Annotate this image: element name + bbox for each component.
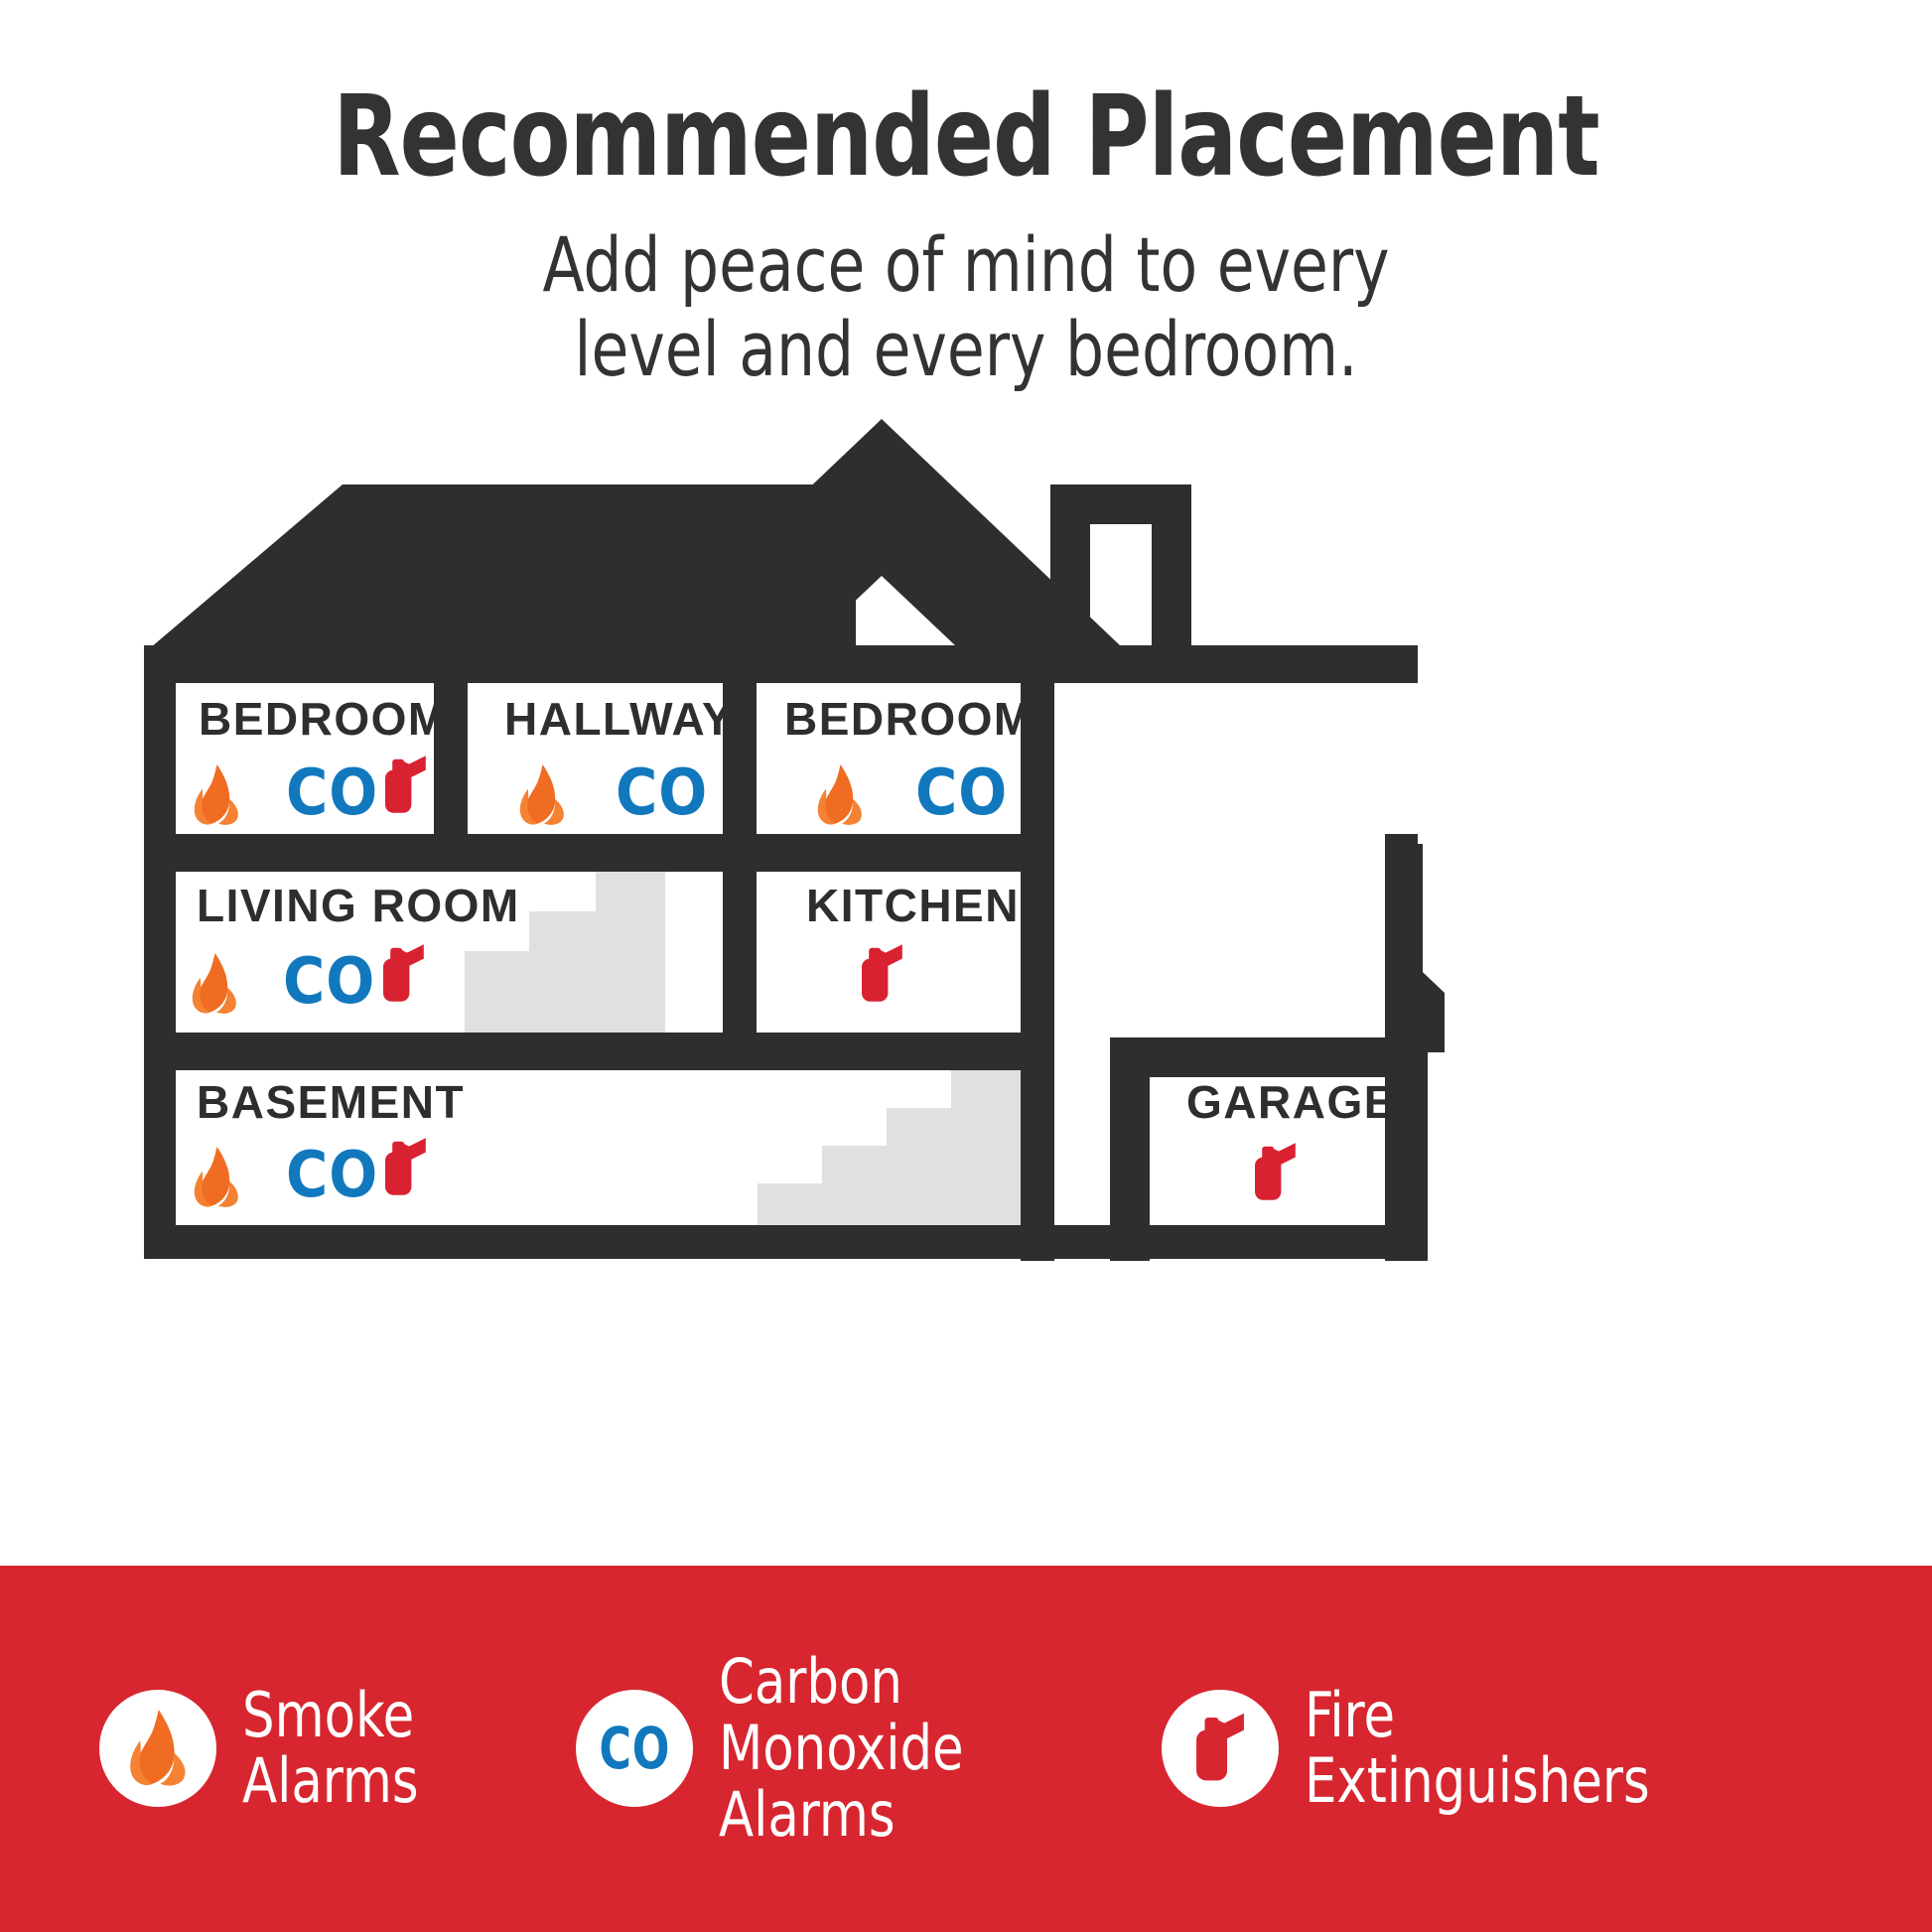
co-alarm-icon: CO [283,945,375,1019]
legend-label: Fire Extinguishers [1305,1683,1650,1816]
house-diagram: BEDROOM CO HALLWAY CO BEDROOM CO LIVING … [0,397,1932,1579]
room-label: BASEMENT [197,1076,465,1128]
room-label: HALLWAY [504,693,734,745]
page-title: Recommended Placement [116,81,1816,193]
partition-mid-1 [723,834,757,1038]
legend-label: Carbon Monoxide Alarms [719,1649,1126,1849]
co-alarm-icon: CO [286,1139,378,1212]
upper-ceiling [144,645,1418,683]
foundation-line-2 [144,1225,1428,1259]
legend-bar: Smoke Alarms CO Carbon Monoxide Alarms F… [0,1566,1932,1932]
co-alarm-icon: CO [616,757,708,830]
subtitle-line-2: level and every bedroom. [96,307,1835,391]
smoke-alarm-badge [99,1690,216,1807]
room-label: KITCHEN [806,880,1020,931]
infographic-root: Recommended Placement Add peace of mind … [0,0,1932,1932]
co-alarm-badge: CO [576,1690,693,1807]
co-alarm-icon: CO [286,757,378,830]
room-label: GARAGE [1186,1076,1396,1128]
room-label: BEDROOM [199,693,448,745]
legend-item-fire-extinguishers[interactable]: Fire Extinguishers [1162,1683,1680,1816]
smoke-alarm-icon [125,1707,191,1790]
co-alarm-icon: CO [599,1715,670,1782]
garage-top-wall [1110,1037,1428,1077]
page-subtitle: Add peace of mind to every level and eve… [96,222,1835,391]
room-label: BEDROOM [784,693,1034,745]
co-alarm-icon: CO [915,757,1008,830]
subtitle-line-1: Add peace of mind to every [96,222,1835,307]
legend-label: Smoke Alarms [242,1683,419,1816]
header: Recommended Placement Add peace of mind … [0,0,1932,391]
left-wall [144,645,176,1257]
legend-item-smoke-alarms[interactable]: Smoke Alarms [99,1683,576,1816]
legend-item-co-alarms[interactable]: CO Carbon Monoxide Alarms [576,1649,1162,1849]
fire-extinguisher-icon [1189,1710,1251,1787]
room-label: LIVING ROOM [197,880,520,931]
fire-extinguisher-badge [1162,1690,1279,1807]
